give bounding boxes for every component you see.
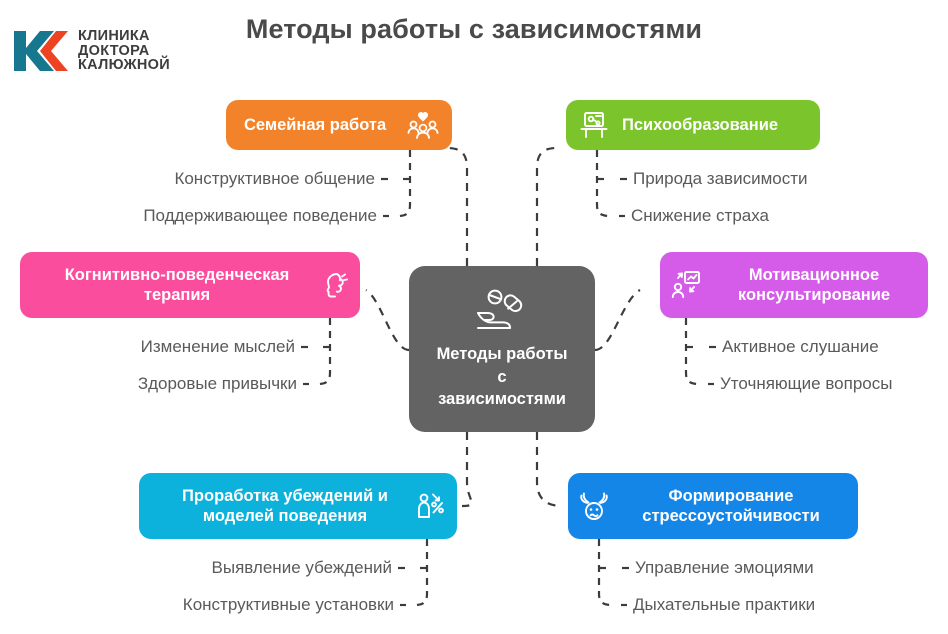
branch-label-stress-line2: стрессоустойчивости [620,506,842,526]
infographic-canvas: КЛИНИКА ДОКТОРА КАЛЮЖНОЙ Методы работы с… [0,0,948,634]
connector-cbt-trunk [317,318,330,384]
connector-family-trunk [397,150,410,216]
branch-node-motivational[interactable]: Мотивационное консультирование [660,252,928,318]
connector-center-to-beliefs [462,432,472,506]
hand-pills-icon [472,288,532,334]
person-chart-arrows-icon [670,269,704,301]
connector-center-to-family [447,148,467,266]
branch-label-cbt-line1: Когнитивно-поведенческая [36,265,318,285]
center-label-line3: зависимостями [438,389,566,410]
branch-node-psychoeducation[interactable]: Психообразование [566,100,820,150]
connector-psycho-trunk [597,150,611,216]
branch-label-stress: Формирование стрессоустойчивости [620,486,842,526]
branch-label-beliefs: Проработка убеждений и моделей поведения [155,486,415,526]
branch-label-motivational-line2: консультирование [714,285,914,305]
branch-label-stress-line1: Формирование [620,486,842,506]
connector-center-to-stress [537,432,562,506]
subitem-cbt-1: Изменение мыслей [10,338,295,355]
subitem-beliefs-2: Конструктивные установки [100,596,394,613]
branch-label-motivational: Мотивационное консультирование [714,265,914,305]
logo-line-3: КАЛЮЖНОЙ [78,58,170,73]
branch-node-cbt[interactable]: Когнитивно-поведенческая терапия [20,252,360,318]
center-label-line1: Методы работы [437,344,568,365]
stressed-face-icon [578,490,612,522]
subitem-psycho-1: Природа зависимости [633,170,933,187]
center-label-line2: с [497,367,506,388]
head-brain-icon [318,269,350,301]
branch-label-family: Семейная работа [244,115,386,135]
connector-beliefs-trunk [414,539,427,605]
branch-node-stress[interactable]: Формирование стрессоустойчивости [568,473,858,539]
branch-label-beliefs-line1: Проработка убеждений и [155,486,415,506]
subitem-stress-2: Дыхательные практики [633,596,933,613]
branch-label-cbt-line2: терапия [36,285,318,305]
connector-motiv-trunk [686,318,700,384]
connector-center-to-motiv [595,290,640,350]
subitem-cbt-2: Здоровые привычки [10,375,297,392]
branch-node-beliefs[interactable]: Проработка убеждений и моделей поведения [139,473,457,539]
page-title: Методы работы с зависимостями [0,14,948,45]
branch-label-motivational-line1: Мотивационное [714,265,914,285]
subitem-family-2: Поддерживающее поведение [60,207,377,224]
subitem-motiv-2: Уточняющие вопросы [720,375,947,392]
subitem-beliefs-1: Выявление убеждений [100,559,392,576]
person-percent-icon [415,490,447,522]
subitem-motiv-1: Активное слушание [722,338,947,355]
connector-center-to-cbt [366,290,409,350]
whiteboard-presentation-icon [578,109,610,141]
connector-center-to-psycho [537,148,557,266]
connector-stress-trunk [599,539,613,605]
branch-label-psychoeducation: Психообразование [622,115,778,135]
subitem-psycho-2: Снижение страха [631,207,931,224]
family-heart-icon [406,109,440,141]
subitem-family-1: Конструктивное общение [60,170,375,187]
center-node[interactable]: Методы работы с зависимостями [409,266,595,432]
subitem-stress-1: Управление эмоциями [635,559,935,576]
branch-label-cbt: Когнитивно-поведенческая терапия [36,265,318,305]
branch-label-beliefs-line2: моделей поведения [155,506,415,526]
branch-node-family[interactable]: Семейная работа [226,100,452,150]
